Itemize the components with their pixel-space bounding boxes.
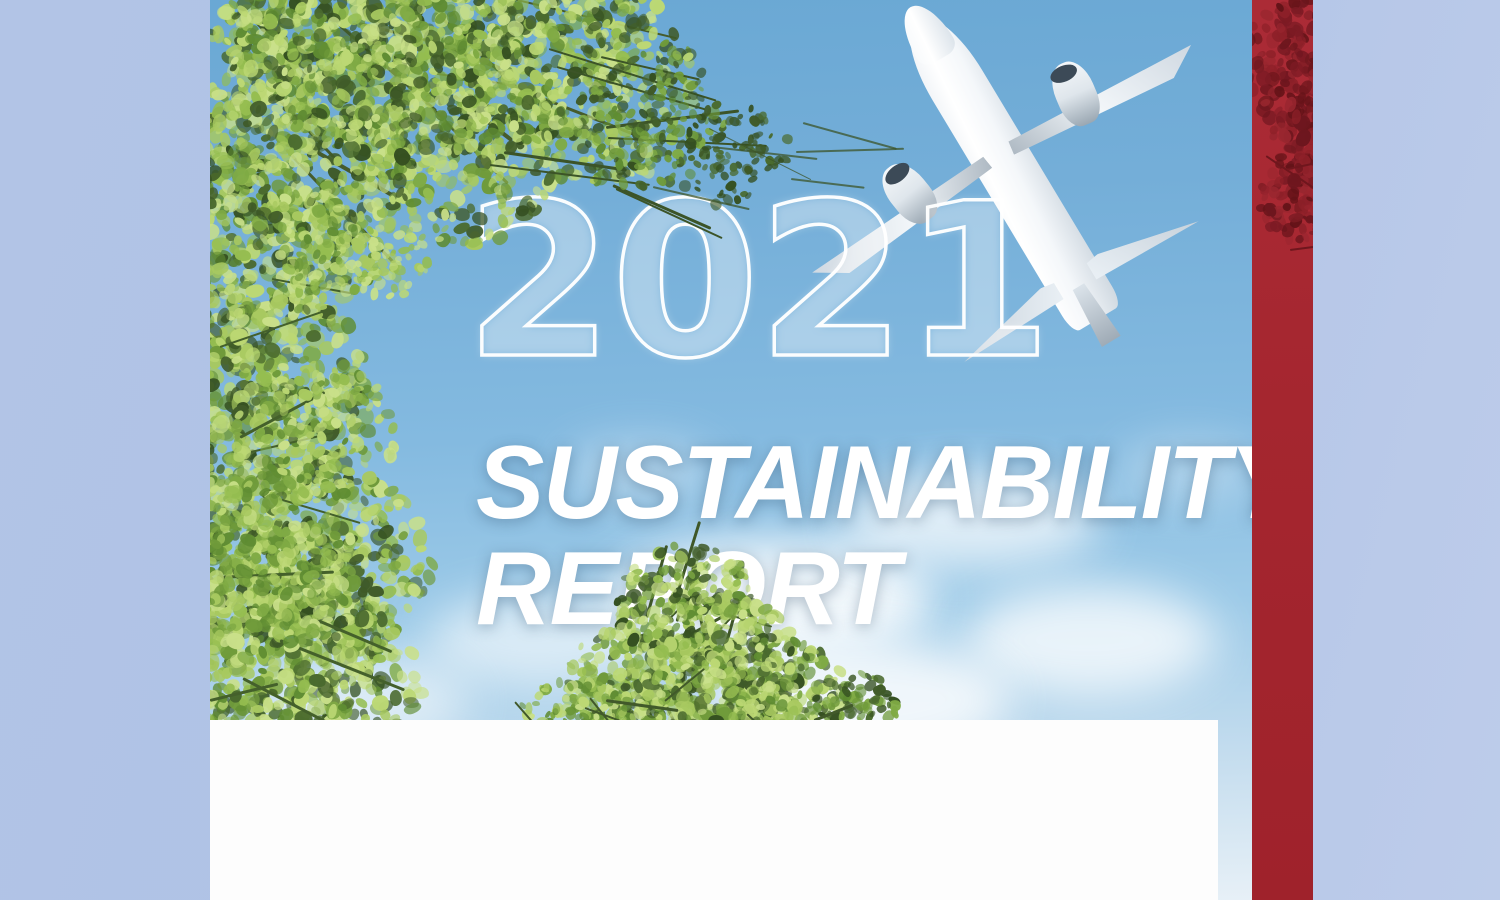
cover-page: 2021 SUSTAINABILITY REPORT ATSG AIR TRAN…	[0, 0, 1500, 900]
cover-year: 2021	[465, 178, 1050, 387]
cover-title-line-1: SUSTAINABILITY	[476, 424, 1252, 543]
red-accent-panel	[1252, 0, 1313, 900]
cover-title-line-2: REPORT	[476, 530, 899, 649]
logo-band: ATSG AIR TRANSPORT SERVICES GROUP	[210, 720, 1218, 900]
